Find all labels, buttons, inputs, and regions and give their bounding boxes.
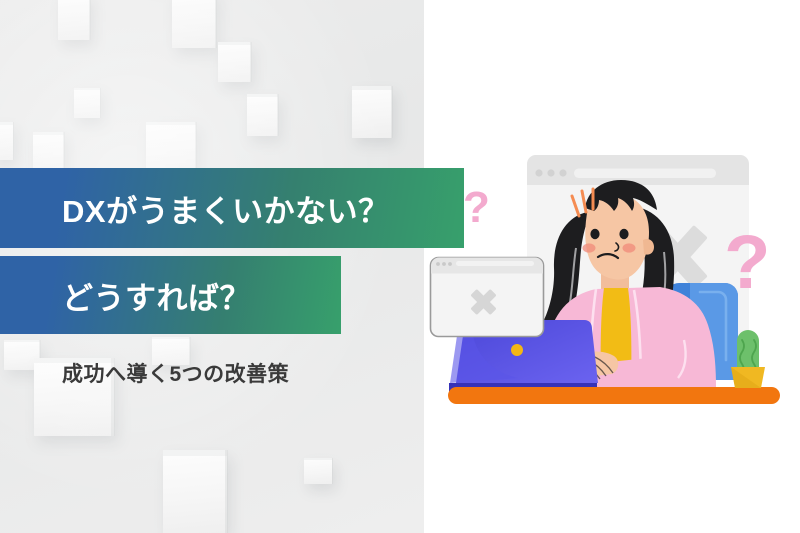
eye (619, 229, 628, 239)
eye (590, 229, 599, 239)
window-dot-icon (436, 262, 440, 266)
banner-image: ? ? DXがうまくいかない？ どうすれば？ 成功へ導く5つの改善策 (0, 0, 800, 533)
browser-window-error (431, 258, 544, 337)
headline-bar-2: どうすれば？ (0, 256, 341, 334)
url-bar (456, 261, 534, 266)
window-dot-icon (559, 169, 566, 176)
window-dot-icon (535, 169, 542, 176)
window-dot-icon (448, 262, 452, 266)
window-dot-icon (547, 169, 554, 176)
desk (448, 387, 780, 404)
headline-text-1: DXがうまくいかない？ (62, 186, 390, 231)
headline-bar-1: DXがうまくいかない？ (0, 168, 464, 248)
question-mark-small-icon: ? (463, 183, 490, 232)
headline-text-2: どうすれば？ (62, 273, 251, 318)
url-bar (574, 169, 716, 179)
laptop-logo (511, 344, 523, 356)
window-dot-icon (442, 262, 446, 266)
question-mark-large-icon: ? (724, 220, 770, 305)
subtitle-text: 成功へ導く5つの改善策 (62, 358, 289, 388)
